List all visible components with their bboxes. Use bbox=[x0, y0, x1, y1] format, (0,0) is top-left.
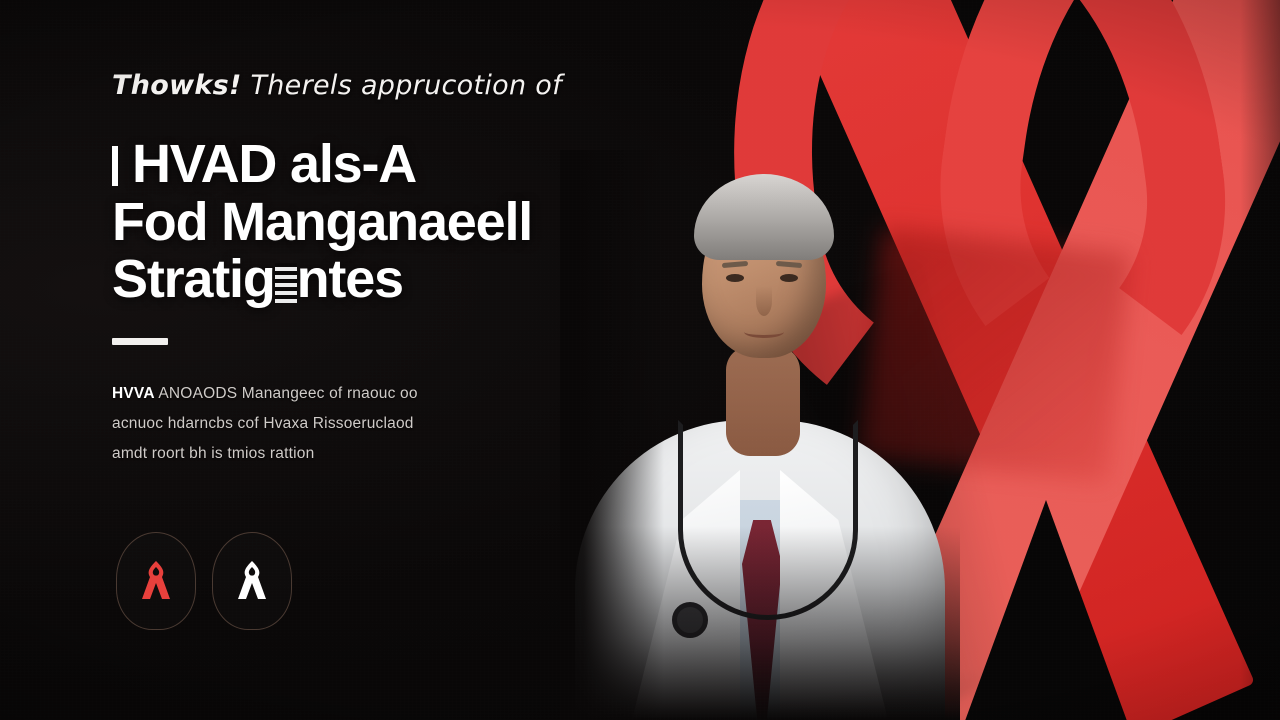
stethoscope-bell bbox=[672, 602, 708, 638]
headline-line-1: HVAD als-A bbox=[112, 136, 592, 193]
text-column: Thowks! Therels apprucotion of HVAD als-… bbox=[112, 70, 592, 468]
doctor-portrait bbox=[560, 150, 960, 720]
body-copy: HVVA ANOAODS Manangeec of rnaouc oo acnu… bbox=[112, 379, 592, 468]
doctor-mouth bbox=[744, 326, 784, 338]
body-line-2: acnuoc hdarncbs cof Hvaxa Rissoeruclaod bbox=[112, 409, 592, 439]
headline-line-3-before: Stratig bbox=[112, 249, 275, 309]
red-ribbon-icon bbox=[139, 559, 173, 603]
body-line-1: HVVA ANOAODS Manangeec of rnaouc oo bbox=[112, 379, 592, 409]
badge-row bbox=[116, 532, 292, 630]
kicker-rest: Therels apprucotion of bbox=[250, 70, 561, 101]
body-line-1-strong: HVVA bbox=[112, 385, 155, 402]
doctor-eye-right bbox=[780, 274, 798, 282]
headline-line-3: Stratigntes bbox=[112, 251, 592, 308]
kicker-strong: Thowks! bbox=[112, 70, 242, 101]
page-title: HVAD als-A Fod Manganaeell Stratigntes bbox=[112, 136, 592, 308]
headline-accent-bar bbox=[112, 146, 118, 186]
slide-canvas: Thowks! Therels apprucotion of HVAD als-… bbox=[0, 0, 1280, 720]
doctor-hair bbox=[694, 174, 834, 260]
ribbon-right-fade bbox=[1240, 0, 1280, 720]
doctor-nose bbox=[756, 286, 772, 316]
headline-line-1-text: HVAD als-A bbox=[132, 134, 416, 194]
body-line-1-rest: ANOAODS Manangeec of rnaouc oo bbox=[158, 385, 417, 402]
badge-white-ribbon[interactable] bbox=[212, 532, 292, 630]
body-line-3: amdt roort bh is tmios rattion bbox=[112, 439, 592, 469]
headline-line-3-after: ntes bbox=[297, 249, 403, 309]
glitch-glyph-icon bbox=[275, 263, 297, 303]
doctor-eye-left bbox=[726, 274, 744, 282]
headline-line-2: Fod Manganaeell bbox=[112, 194, 592, 251]
white-ribbon-icon bbox=[235, 559, 269, 603]
doctor-neck bbox=[726, 346, 800, 456]
badge-red-ribbon[interactable] bbox=[116, 532, 196, 630]
section-divider bbox=[112, 338, 168, 345]
kicker-line: Thowks! Therels apprucotion of bbox=[112, 70, 592, 102]
